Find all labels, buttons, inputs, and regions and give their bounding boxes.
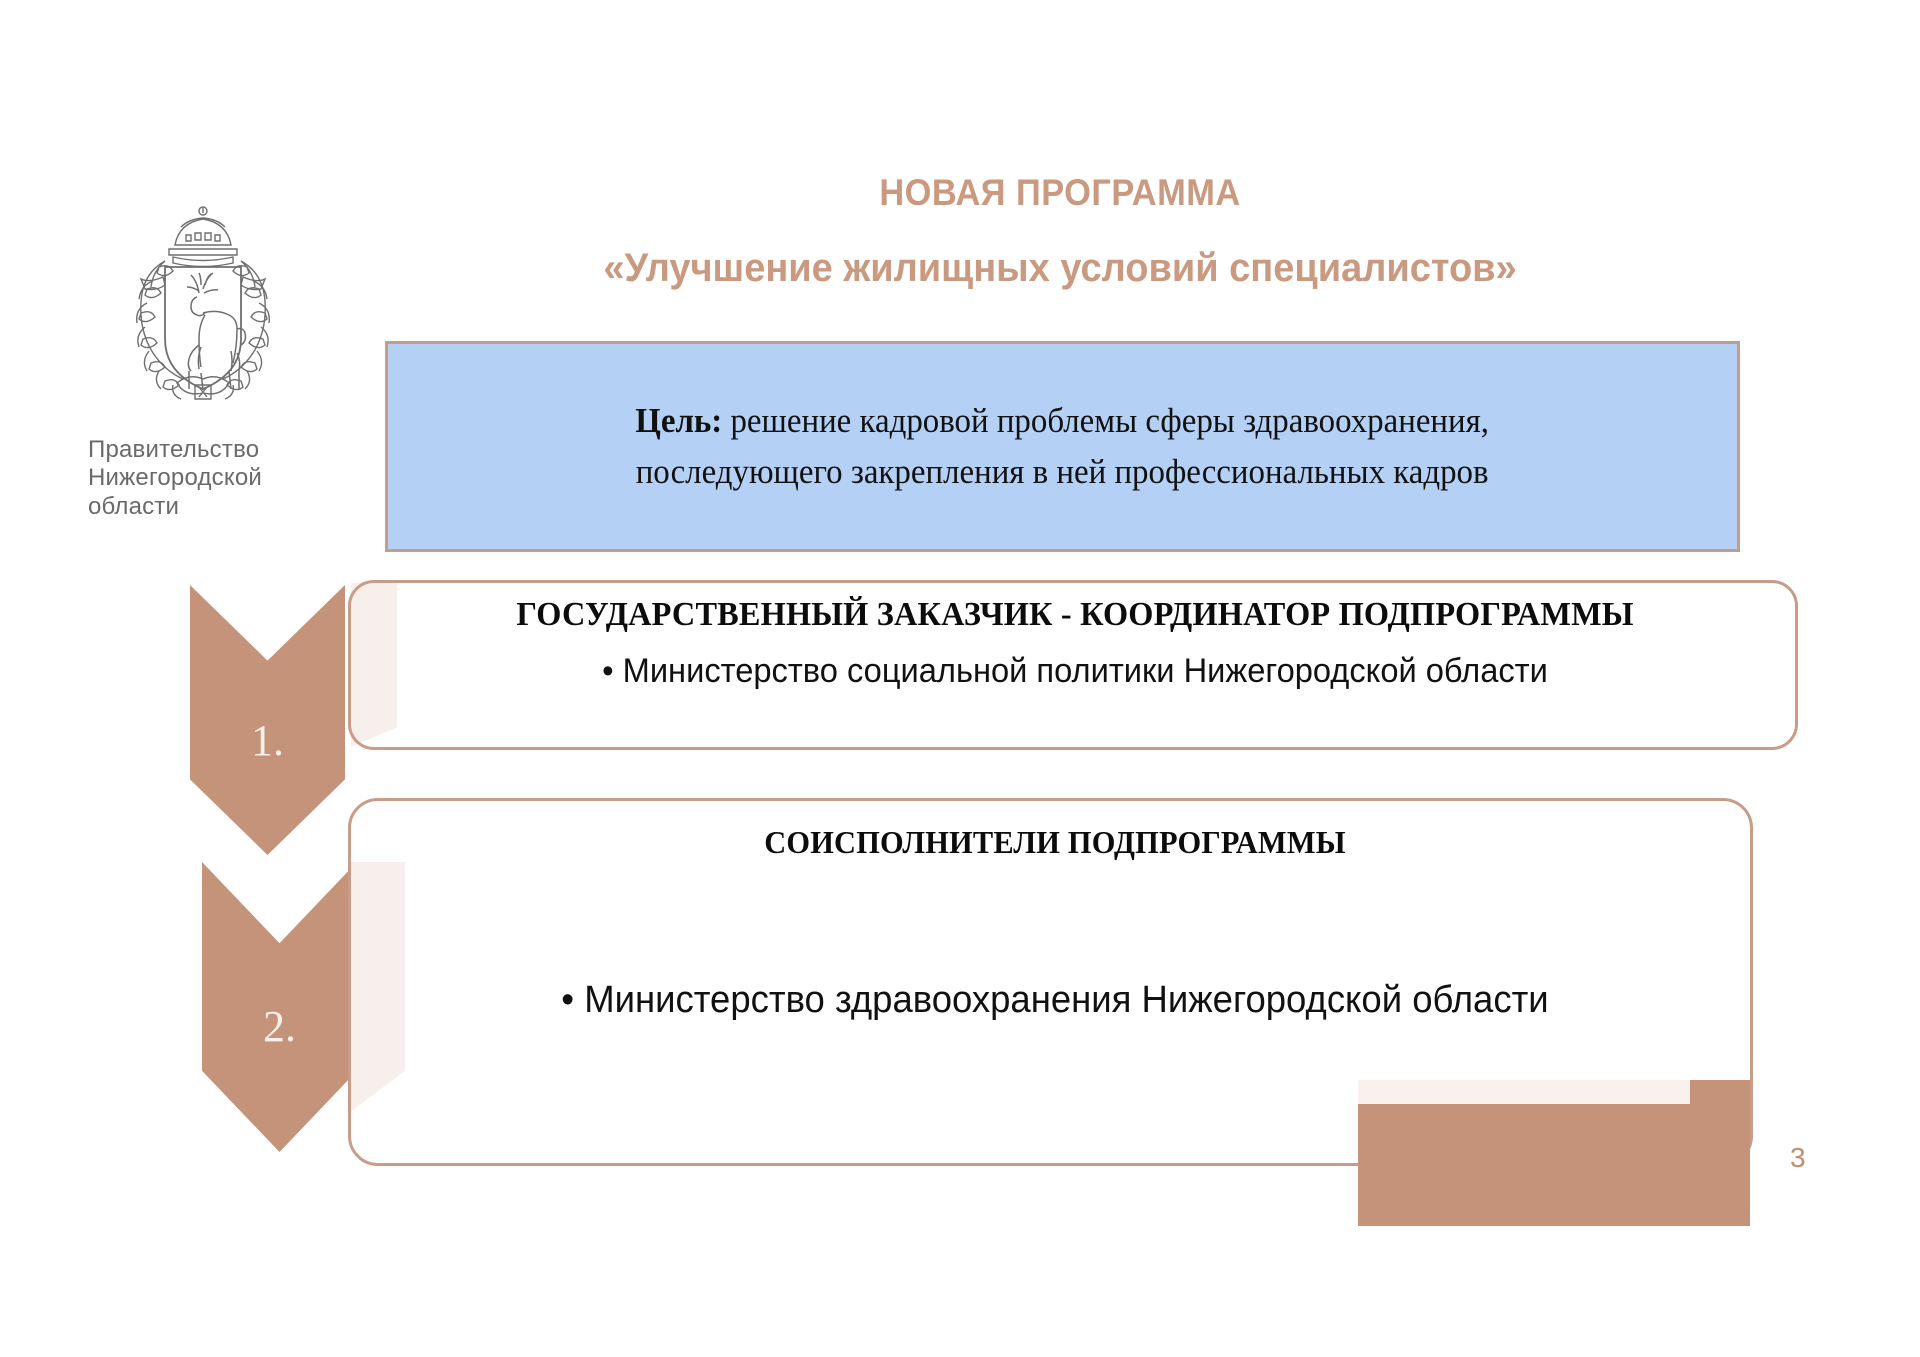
step-number-2: 2. xyxy=(202,1001,357,1052)
page-number: 3 xyxy=(1790,1142,1806,1174)
slide-canvas: Правительство Нижегородской области НОВА… xyxy=(0,0,1920,1357)
decoration-accent-bar xyxy=(1358,1104,1750,1226)
goal-box: Цель: решение кадровой проблемы сферы зд… xyxy=(385,341,1740,552)
step-1-bullet: • Министерство социальной политики Нижег… xyxy=(389,652,1762,691)
government-logo: Правительство Нижегородской области xyxy=(78,205,328,521)
slide-title: НОВАЯ ПРОГРАММА xyxy=(428,172,1693,214)
step-chevron-1: 1. xyxy=(190,585,345,855)
logo-caption-line-2: Нижегородской xyxy=(88,464,328,492)
step-chevron-2: 2. xyxy=(202,862,357,1152)
step-1-heading: ГОСУДАРСТВЕННЫЙ ЗАКАЗЧИК - КООРДИНАТОР П… xyxy=(396,596,1755,634)
goal-line-2: последующего закрепления в ней профессио… xyxy=(636,452,1489,491)
slide-subtitle: «Улучшение жилищных условий специалистов… xyxy=(414,246,1706,291)
goal-text: Цель: решение кадровой проблемы сферы зд… xyxy=(602,396,1523,498)
nizhny-novgorod-coat-of-arms-icon xyxy=(103,205,303,420)
step-box-2-content: СОИСПОЛНИТЕЛИ ПОДПРОГРАММЫ • Министерств… xyxy=(360,812,1750,1022)
step-2-bullet: • Министерство здравоохранения Нижегород… xyxy=(388,979,1722,1022)
logo-caption-line-1: Правительство xyxy=(88,436,328,464)
goal-label: Цель: xyxy=(636,401,723,440)
step-number-1: 1. xyxy=(190,715,345,766)
logo-caption-line-3: области xyxy=(88,493,328,521)
goal-line-1: решение кадровой проблемы сферы здравоох… xyxy=(723,401,1490,440)
logo-caption: Правительство Нижегородской области xyxy=(78,436,328,521)
step-2-heading: СОИСПОЛНИТЕЛИ ПОДПРОГРАММЫ xyxy=(395,824,1716,861)
step-box-1-content: ГОСУДАРСТВЕННЫЙ ЗАКАЗЧИК - КООРДИНАТОР П… xyxy=(360,596,1790,691)
